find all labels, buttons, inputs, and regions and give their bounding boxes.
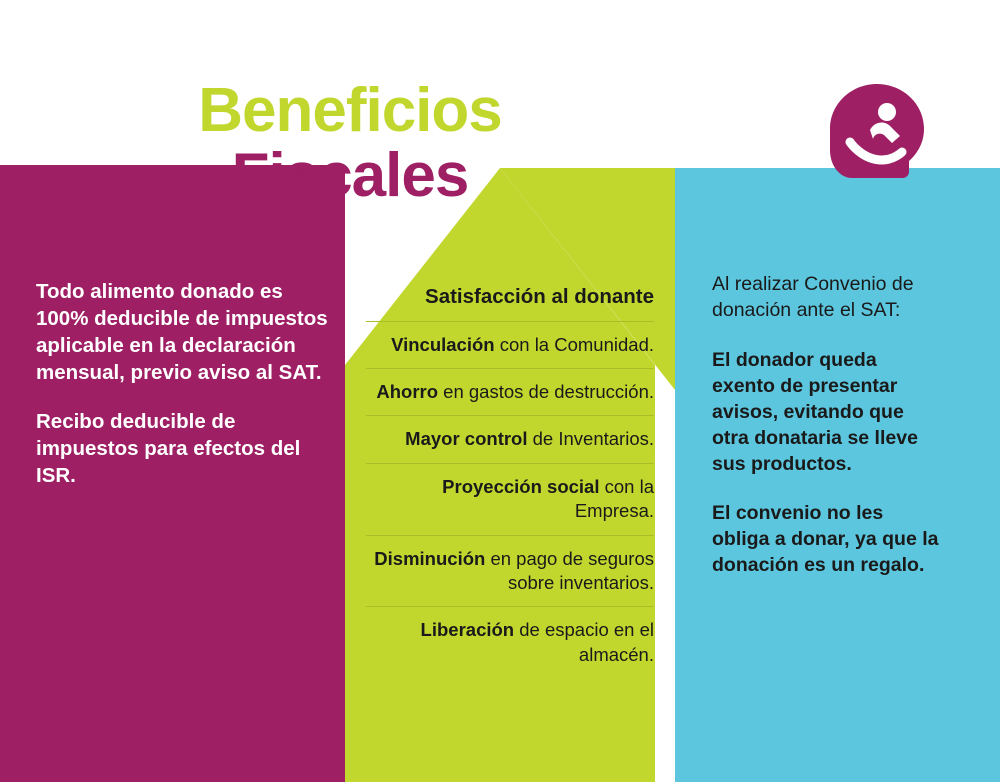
logo-head-icon: [878, 103, 896, 121]
right-paragraph-1-emphasis: exento: [712, 375, 775, 397]
right-paragraph-1: El donador queda exento de presentar avi…: [712, 348, 942, 478]
left-paragraph-2: Recibo deducible de impuestos para efect…: [36, 408, 336, 489]
white-gap: [655, 365, 675, 782]
list-item-strong: Ahorro: [376, 381, 438, 402]
title-line-fiscales: Fiscales: [120, 143, 580, 208]
left-paragraph-1: Todo alimento donado es 100% deducible d…: [36, 278, 336, 386]
list-item-rest: de espacio en el almacén.: [514, 619, 654, 664]
list-item-strong: Disminución: [374, 548, 485, 569]
hand-holding-person-logo: [828, 82, 926, 180]
page-title: Beneficios Fiscales: [120, 78, 580, 208]
list-item: Mayor control de Inventarios.: [366, 415, 654, 462]
list-item-rest: de Inventarios.: [528, 428, 655, 449]
column-tax-benefits: Todo alimento donado es 100% deducible d…: [36, 278, 336, 511]
list-item-strong: Liberación: [421, 619, 515, 640]
right-paragraph-2: El convenio no les obliga a donar, ya qu…: [712, 501, 942, 579]
list-item-strong: Proyección social: [442, 476, 599, 497]
list-item: Disminución en pago de seguros sobre inv…: [366, 535, 654, 607]
list-item: Proyección social con la Empresa.: [366, 463, 654, 535]
list-item: Liberación de espacio en el almacén.: [366, 606, 654, 678]
title-line-beneficios: Beneficios: [120, 78, 580, 143]
list-item-rest: con la Comunidad.: [495, 334, 654, 355]
right-intro: Al realizar Convenio de donación ante el…: [712, 272, 942, 324]
list-item-rest: en pago de seguros sobre inventarios.: [485, 548, 654, 593]
list-item-strong: Mayor control: [405, 428, 527, 449]
right-paragraph-1-a: El donador queda: [712, 349, 877, 371]
middle-heading: Satisfacción al donante: [366, 284, 654, 311]
list-item: Ahorro en gastos de destrucción.: [366, 368, 654, 415]
list-item-rest: en gastos de destrucción.: [438, 381, 654, 402]
column-sat-agreement: Al realizar Convenio de donación ante el…: [712, 272, 942, 603]
infographic-canvas: Beneficios Fiscales Todo alimento donado…: [0, 0, 1000, 782]
column-donor-satisfaction: Satisfacción al donante Vinculación con …: [366, 284, 654, 678]
list-item-strong: Vinculación: [391, 334, 495, 355]
list-item: Vinculación con la Comunidad.: [366, 321, 654, 368]
